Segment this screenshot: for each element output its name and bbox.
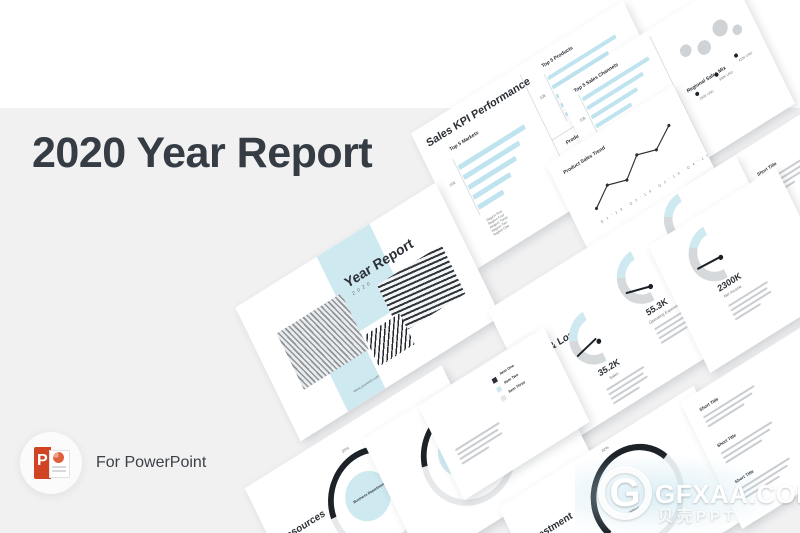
legend-label-3: Item Three xyxy=(508,380,526,394)
watermark-subtext: 贝壳PPT xyxy=(658,505,737,526)
channels-axis: 10k xyxy=(579,115,587,123)
powerpoint-icon: P xyxy=(20,432,82,494)
screenshot-root: 2020 Year Re 2020 Year Re Sales KPI Perf… xyxy=(0,0,800,533)
legend-label-2: Item Two xyxy=(504,373,519,385)
pie-chart-icon xyxy=(53,452,64,463)
investment-title: Investment xyxy=(525,511,575,533)
textlist-body-1 xyxy=(703,385,760,430)
legend-label-1: Item One xyxy=(499,364,515,376)
resources-title: Resources xyxy=(279,508,327,533)
resources-pct-1: 35% xyxy=(341,445,350,454)
powerpoint-icon-letter: P xyxy=(37,453,48,469)
regional-item-1: 290K USD xyxy=(699,89,714,101)
regional-world-map xyxy=(665,0,756,84)
legend-swatch-1 xyxy=(492,377,498,384)
regional-item-3: 410K USD xyxy=(738,51,753,63)
page-title: 2020 Year Report xyxy=(32,130,372,177)
legend-swatch-2 xyxy=(496,386,502,393)
kpi-chart2-axis: 10k xyxy=(539,93,547,101)
kpi-chart1-bars xyxy=(454,114,556,222)
powerpoint-badge: P For PowerPoint xyxy=(20,432,206,494)
legend-swatch-3 xyxy=(500,395,506,402)
watermark-logo-letter: G xyxy=(598,466,652,520)
kpi-chart1-axis: 10k xyxy=(448,180,456,188)
legend-body xyxy=(455,422,508,468)
powerpoint-label: For PowerPoint xyxy=(96,454,206,472)
